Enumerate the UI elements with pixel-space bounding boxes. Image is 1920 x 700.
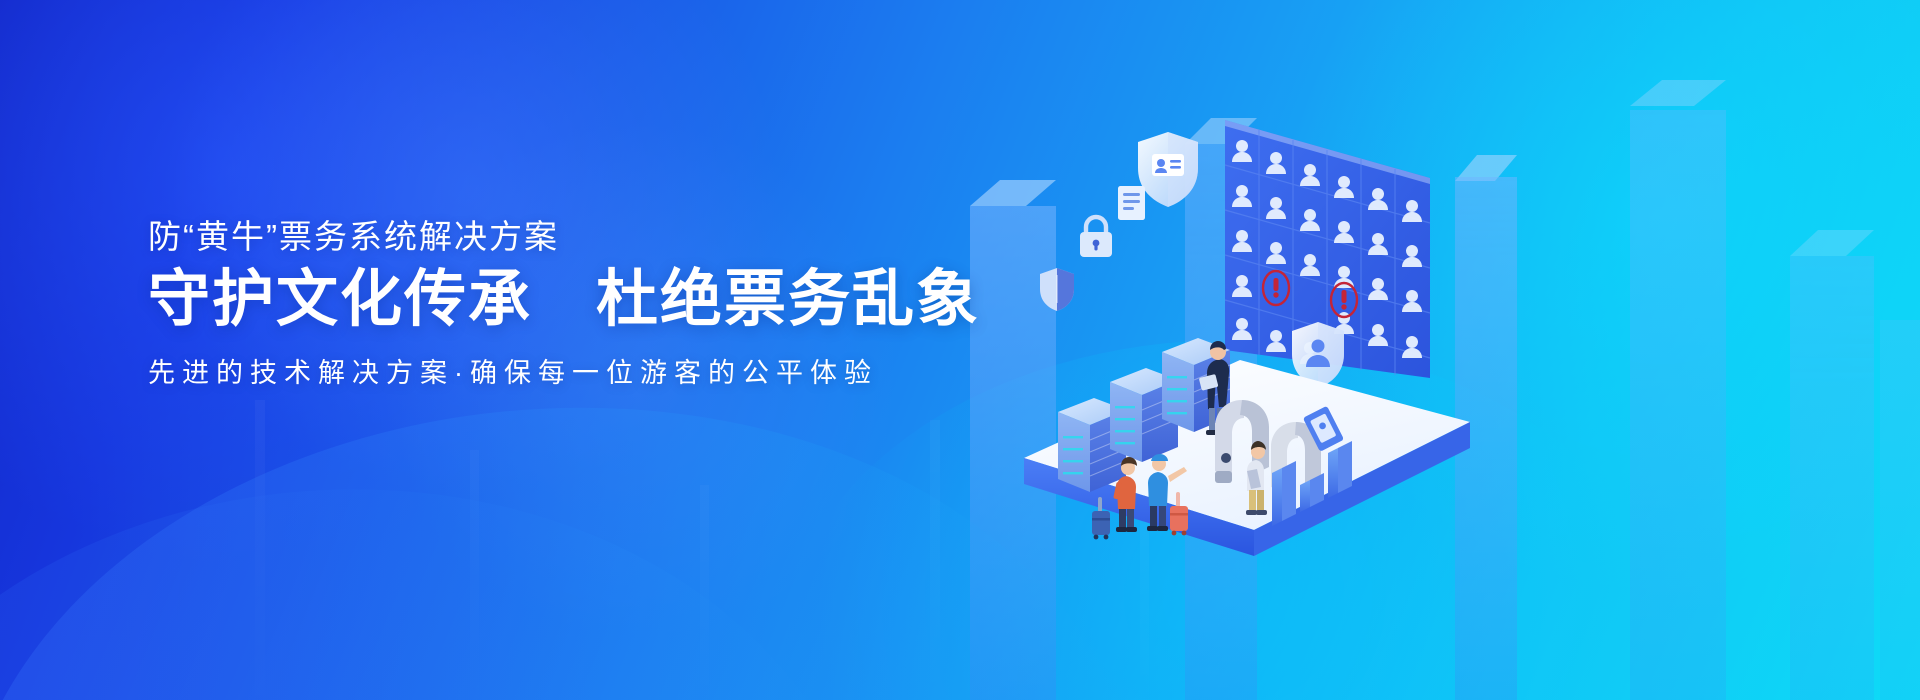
document-icon xyxy=(1118,186,1145,220)
shield-icon xyxy=(1040,268,1074,311)
banner-subtitle: 先进的技术解决方案·确保每一位游客的公平体验 xyxy=(148,356,1028,391)
decor-prism xyxy=(1880,320,1920,700)
id-card-shield-icon xyxy=(1138,132,1198,207)
banner-headline: 守护文化传承 杜绝票务乱象 xyxy=(148,263,1028,336)
hero-illustration xyxy=(1010,60,1480,680)
hero-banner: 防“黄牛”票务系统解决方案 守护文化传承 杜绝票务乱象 先进的技术解决方案·确保… xyxy=(0,0,1920,700)
banner-eyebrow: 防“黄牛”票务系统解决方案 xyxy=(148,216,1028,257)
hero-copy: 防“黄牛”票务系统解决方案 守护文化传承 杜绝票务乱象 先进的技术解决方案·确保… xyxy=(148,216,1028,392)
decor-prism xyxy=(1630,80,1726,700)
lock-icon xyxy=(1080,217,1112,257)
decor-prism xyxy=(1790,230,1874,700)
